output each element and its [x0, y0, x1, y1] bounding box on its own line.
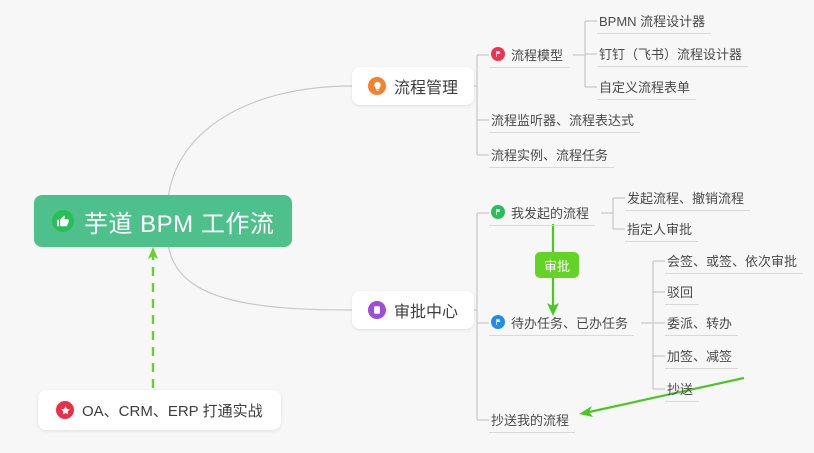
branch-label: 审批中心	[394, 298, 458, 322]
node-label: 待办任务、已办任务	[511, 313, 628, 332]
leaf-cc-to-me-processes[interactable]: 抄送我的流程	[489, 406, 575, 433]
leaf-label: 抄送	[667, 379, 693, 398]
bottom-card-label: OA、CRM、ERP 打通实战	[82, 400, 263, 421]
leaf-cc[interactable]: 抄送	[665, 375, 699, 402]
leaf-start-cancel-process[interactable]: 发起流程、撤销流程	[625, 184, 750, 211]
leaf-process-listener-expression[interactable]: 流程监听器、流程表达式	[489, 106, 640, 133]
leaf-label: 抄送我的流程	[491, 410, 569, 429]
leaf-reject[interactable]: 驳回	[665, 278, 699, 305]
flag-icon	[491, 315, 505, 329]
node-todo-done-tasks[interactable]: 待办任务、已办任务	[489, 309, 634, 336]
node-my-initiated-processes[interactable]: 我发起的流程	[489, 199, 595, 226]
link-root-to-approval-center	[168, 243, 352, 310]
flag-icon	[491, 47, 505, 61]
green-arrow-cc-to-cc-flow	[579, 378, 744, 417]
mindmap-canvas: 芋道 BPM 工作流 流程管理 流程模型 BPMN 流程设计器 钉钉（飞书）流程…	[0, 0, 814, 453]
leaf-label: 会签、或签、依次审批	[667, 251, 797, 270]
leaf-custom-process-form[interactable]: 自定义流程表单	[597, 73, 696, 100]
thumbs-up-icon	[52, 210, 74, 232]
node-label: 流程模型	[511, 45, 563, 64]
leaf-label: 加签、减签	[667, 346, 732, 365]
leaf-process-instance-task[interactable]: 流程实例、流程任务	[489, 141, 614, 168]
node-process-model[interactable]: 流程模型	[489, 41, 569, 68]
approval-badge: 审批	[535, 252, 579, 278]
dashed-arrow-bottom-to-root	[148, 247, 158, 388]
link-root-to-process-management	[168, 86, 352, 200]
leaf-countersign-orsign-sequential[interactable]: 会签、或签、依次审批	[665, 247, 803, 274]
leaf-label: BPMN 流程设计器	[599, 11, 705, 30]
leaf-assigned-approver[interactable]: 指定人审批	[625, 215, 698, 242]
leaf-label: 流程实例、流程任务	[491, 145, 608, 164]
leaf-label: 钉钉（飞书）流程设计器	[599, 44, 742, 63]
branch-node-approval-center[interactable]: 审批中心	[352, 291, 474, 329]
leaf-bpmn-designer[interactable]: BPMN 流程设计器	[597, 7, 711, 34]
leaf-add-remove-sign[interactable]: 加签、减签	[665, 342, 738, 369]
leaf-label: 驳回	[667, 282, 693, 301]
branch-node-process-management[interactable]: 流程管理	[352, 67, 474, 105]
leaf-delegate-transfer[interactable]: 委派、转办	[665, 309, 738, 336]
leaf-label: 指定人审批	[627, 219, 692, 238]
bottom-floating-card[interactable]: OA、CRM、ERP 打通实战	[38, 390, 281, 430]
leaf-label: 发起流程、撤销流程	[627, 188, 744, 207]
root-node[interactable]: 芋道 BPM 工作流	[34, 195, 292, 247]
leaf-label: 自定义流程表单	[599, 77, 690, 96]
lightbulb-icon	[368, 77, 386, 95]
leaf-label: 流程监听器、流程表达式	[491, 110, 634, 129]
star-icon	[56, 401, 74, 419]
root-label: 芋道 BPM 工作流	[84, 204, 274, 239]
node-label: 我发起的流程	[511, 203, 589, 222]
leaf-dingtalk-feishu-designer[interactable]: 钉钉（飞书）流程设计器	[597, 40, 748, 67]
leaf-label: 委派、转办	[667, 313, 732, 332]
approval-badge-label: 审批	[544, 256, 570, 275]
branch-label: 流程管理	[394, 74, 458, 98]
clipboard-icon	[368, 301, 386, 319]
flag-icon	[491, 205, 505, 219]
